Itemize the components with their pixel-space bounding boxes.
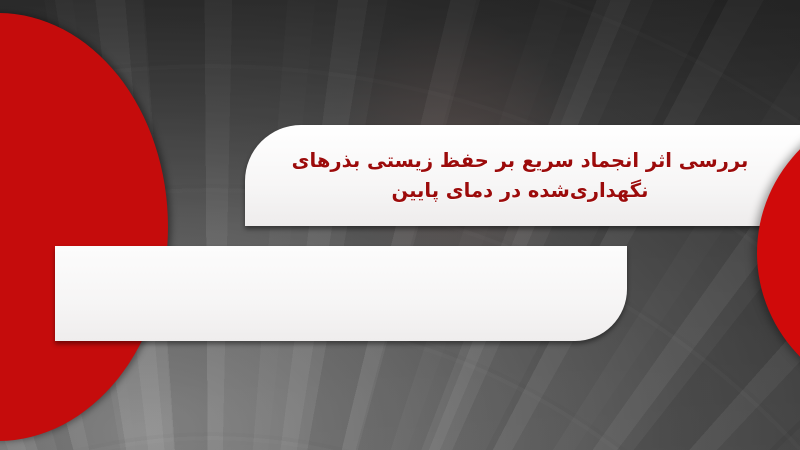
white-subtitle-panel[interactable] — [55, 246, 627, 341]
white-title-panel[interactable]: بررسی اثر انجماد سریع بر حفظ زیستی بذرها… — [245, 125, 800, 226]
presentation-slide: بررسی اثر انجماد سریع بر حفظ زیستی بذرها… — [0, 0, 800, 450]
slide-title: بررسی اثر انجماد سریع بر حفظ زیستی بذرها… — [292, 146, 749, 205]
